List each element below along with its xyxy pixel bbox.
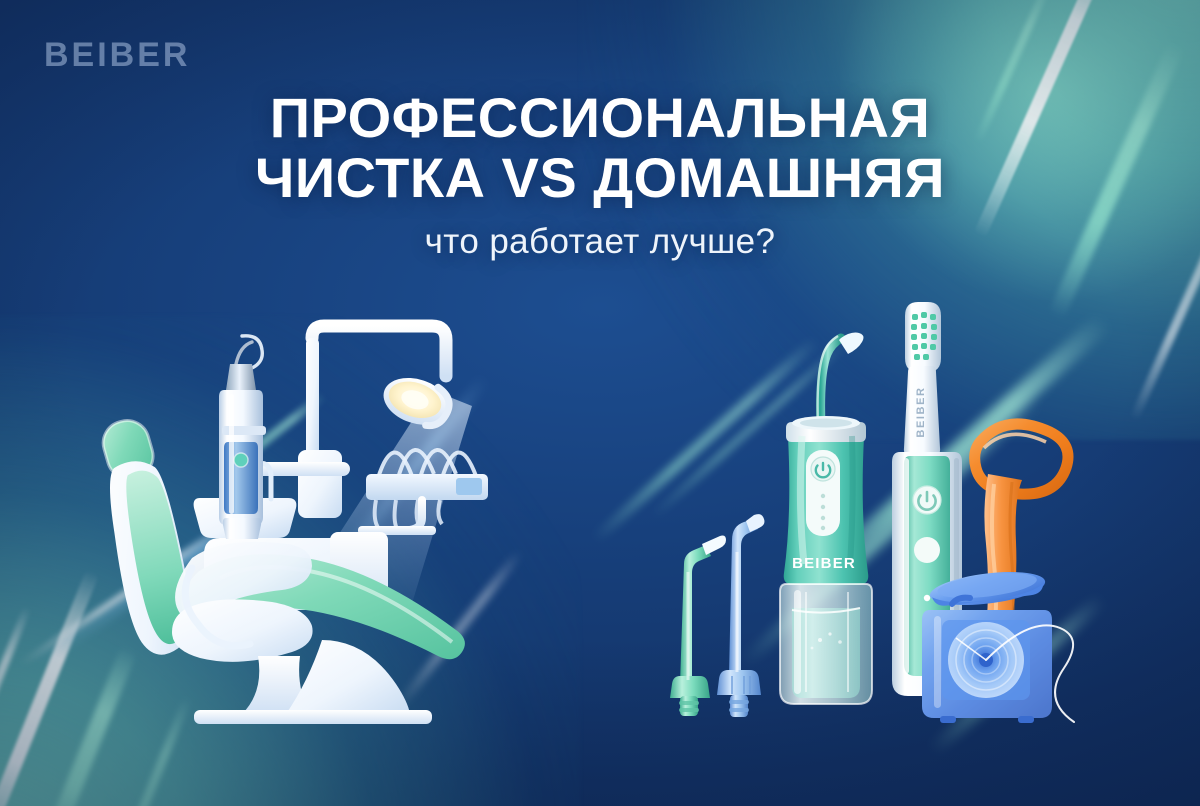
page-subtitle: что работает лучше? [0,222,1200,262]
brand-logo: BEIBER [44,36,190,75]
dental-chair-illustration [80,310,560,730]
water-flosser-brand-text: BEIBER [792,555,856,572]
poster-canvas: BEIBER [0,0,1200,806]
page-title: ПРОФЕССИОНАЛЬНАЯ ЧИСТКА VS ДОМАШНЯЯ [0,88,1200,208]
floss-dispenser-illustration [922,572,1122,732]
title-line-1: ПРОФЕССИОНАЛЬНАЯ [270,86,931,149]
title-line-2: ЧИСТКА VS ДОМАШНЯЯ [0,148,1200,208]
toothbrush-brand-text: BEIBER [915,386,927,437]
ultrasonic-scaler-illustration [196,330,296,550]
